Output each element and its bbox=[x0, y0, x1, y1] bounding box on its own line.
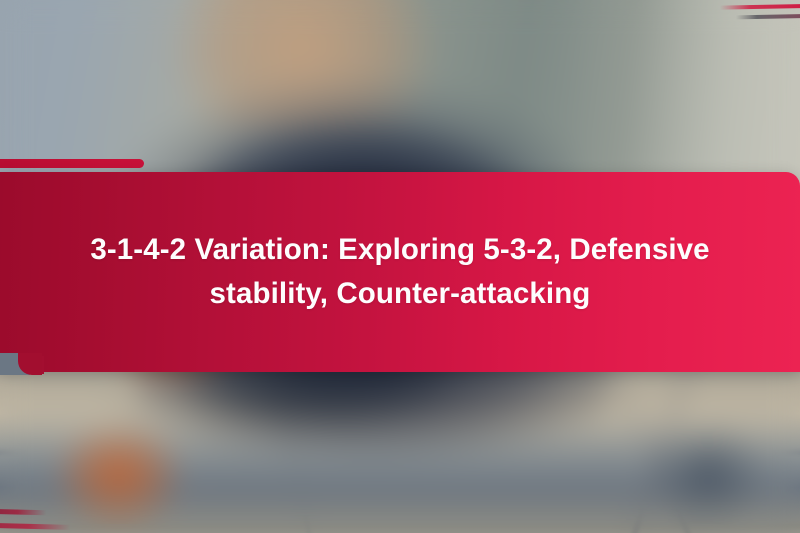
title-card-notch bbox=[0, 353, 30, 375]
hero-banner-image: 3-1-4-2 Variation: Exploring 5-3-2, Defe… bbox=[0, 0, 800, 533]
page-title: 3-1-4-2 Variation: Exploring 5-3-2, Defe… bbox=[0, 228, 800, 315]
title-banner-card: 3-1-4-2 Variation: Exploring 5-3-2, Defe… bbox=[0, 172, 800, 372]
accent-line-bottom-left-dark bbox=[0, 509, 46, 515]
accent-bar-top-left bbox=[0, 159, 144, 168]
